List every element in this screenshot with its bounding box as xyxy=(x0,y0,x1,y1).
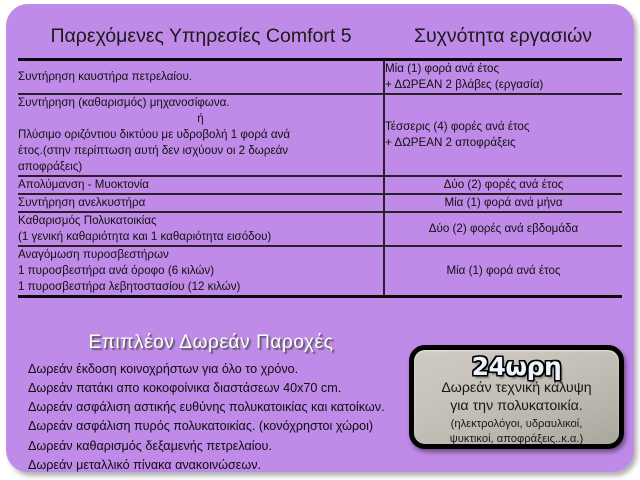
service-line: Αναγόμωση πυροσβεστήρων xyxy=(18,247,383,263)
table-body: Συντήρηση καυστήρα πετρελαίου.Μία (1) φο… xyxy=(18,60,622,297)
service-line: Συντήρηση ανελκυστήρα xyxy=(18,195,383,211)
extras-title: Επιπλέον Δωρεάν Παροχές xyxy=(18,332,388,354)
service-line: Απολύμανση - Μυοκτονία xyxy=(18,177,383,193)
service-line: Συντήρηση (καθαρισμός) μηχανοσίφωνα. xyxy=(18,95,383,111)
service-cell: Αναγόμωση πυροσβεστήρων1 πυροσβεστήρα αν… xyxy=(18,246,384,296)
service-line: έτος.(στην περίπτωση αυτή δεν ισχύουν οι… xyxy=(18,143,383,159)
frequency-line: + ΔΩΡΕΑΝ 2 βλάβες (εργασία) xyxy=(385,77,622,93)
table-row: Αναγόμωση πυροσβεστήρων1 πυροσβεστήρα αν… xyxy=(18,246,622,296)
frequency-line: Μία (1) φορά ανά μήνα xyxy=(385,195,622,211)
extras-item: Δωρεάν μεταλλικό πίνακα ανακοινώσεων. xyxy=(28,456,388,472)
table-row: Συντήρηση καυστήρα πετρελαίου.Μία (1) φο… xyxy=(18,60,622,94)
extras-item: Δωρεάν έκδοση κοινοχρήστων για όλο το χρ… xyxy=(28,360,388,379)
service-line: Πλύσιμο οριζόντιου δικτύου με υδροβολή 1… xyxy=(18,127,383,143)
service-cell: Συντήρηση (καθαρισμός) μηχανοσίφωνα.ήΠλύ… xyxy=(18,94,384,176)
frequency-cell: Μία (1) φορά ανά έτος+ ΔΩΡΕΑΝ 2 βλάβες (… xyxy=(384,60,622,94)
service-cell: Συντήρηση ανελκυστήρα xyxy=(18,194,384,212)
frequency-line: Τέσσερις (4) φορές ανά έτος xyxy=(385,119,622,135)
badge-line-2: για την πολυκατοικία. xyxy=(414,398,619,416)
header-row: Παρεχόμενες Υπηρεσίες Comfort 5 Συχνότητ… xyxy=(18,14,622,60)
table-row: Συντήρηση ανελκυστήραΜία (1) φορά ανά μή… xyxy=(18,194,622,212)
service-line: 1 πυροσβεστήρα ανά όροφο (6 κιλών) xyxy=(18,263,383,279)
table-row: Συντήρηση (καθαρισμός) μηχανοσίφωνα.ήΠλύ… xyxy=(18,94,622,176)
services-table: Παρεχόμενες Υπηρεσίες Comfort 5 Συχνότητ… xyxy=(18,14,622,298)
extras-list: Δωρεάν έκδοση κοινοχρήστων για όλο το χρ… xyxy=(18,360,388,472)
main-purple-panel: Παρεχόμενες Υπηρεσίες Comfort 5 Συχνότητ… xyxy=(6,4,634,472)
service-cell: Καθαρισμός Πολυκατοικίας(1 γενική καθαρι… xyxy=(18,212,384,246)
frequency-line: Δύο (2) φορές ανά έτος xyxy=(385,177,622,193)
extras-item: Δωρεάν ασφάλιση πυρός πολυκατοικίας. (κο… xyxy=(28,417,388,436)
badge-headline: 24ωρη xyxy=(414,353,619,380)
service-line: (1 γενική καθαριότητα και 1 καθαριότητα … xyxy=(18,229,383,245)
frequency-cell: Μία (1) φορά ανά μήνα xyxy=(384,194,622,212)
service-cell: Συντήρηση καυστήρα πετρελαίου. xyxy=(18,60,384,94)
frequency-cell: Δύο (2) φορές ανά εβδομάδα xyxy=(384,212,622,246)
24h-coverage-badge: 24ωρη Δωρεάν τεχνική κάλυψη για την πολυ… xyxy=(409,345,624,449)
service-line: 1 πυροσβεστήρα λεβητοστασίου (12 κιλών) xyxy=(18,279,383,295)
frequency-line: Μία (1) φορά ανά έτος xyxy=(385,263,622,279)
table-header: Παρεχόμενες Υπηρεσίες Comfort 5 Συχνότητ… xyxy=(18,14,622,60)
extras-item: Δωρεάν πατάκι απο κοκοφοίνικα διαστάσεων… xyxy=(28,379,388,398)
service-line: αποφράξεις) xyxy=(18,159,383,175)
service-line: Συντήρηση καυστήρα πετρελαίου. xyxy=(18,69,383,85)
frequency-cell: Δύο (2) φορές ανά έτος xyxy=(384,176,622,194)
badge-line-3: (ηλεκτρολόγοι, υδραυλικοί, xyxy=(414,417,619,431)
frequency-cell: Μία (1) φορά ανά έτος xyxy=(384,246,622,296)
extras-section: Επιπλέον Δωρεάν Παροχές Δωρεάν έκδοση κο… xyxy=(18,332,388,472)
service-line: Καθαρισμός Πολυκατοικίας xyxy=(18,213,383,229)
frequency-line: Δύο (2) φορές ανά εβδομάδα xyxy=(385,221,622,237)
badge-line-4: ψυκτικοί, αποφράξεις..κ.α.) xyxy=(414,432,619,446)
frequency-line: Μία (1) φορά ανά έτος xyxy=(385,61,622,77)
service-line: ή xyxy=(18,111,383,127)
header-services: Παρεχόμενες Υπηρεσίες Comfort 5 xyxy=(18,14,384,60)
extras-item: Δωρεάν καθαρισμός δεξαμενής πετρελαίου. xyxy=(28,437,388,456)
header-frequency: Συχνότητα εργασιών xyxy=(384,14,622,60)
frequency-cell: Τέσσερις (4) φορές ανά έτος+ ΔΩΡΕΑΝ 2 απ… xyxy=(384,94,622,176)
service-cell: Απολύμανση - Μυοκτονία xyxy=(18,176,384,194)
extras-item: Δωρεάν ασφάλιση αστικής ευθύνης πολυκατο… xyxy=(28,398,388,417)
table-row: Απολύμανση - ΜυοκτονίαΔύο (2) φορές ανά … xyxy=(18,176,622,194)
badge-line-1: Δωρεάν τεχνική κάλυψη xyxy=(414,380,619,398)
frequency-line: + ΔΩΡΕΑΝ 2 αποφράξεις xyxy=(385,135,622,151)
table-row: Καθαρισμός Πολυκατοικίας(1 γενική καθαρι… xyxy=(18,212,622,246)
